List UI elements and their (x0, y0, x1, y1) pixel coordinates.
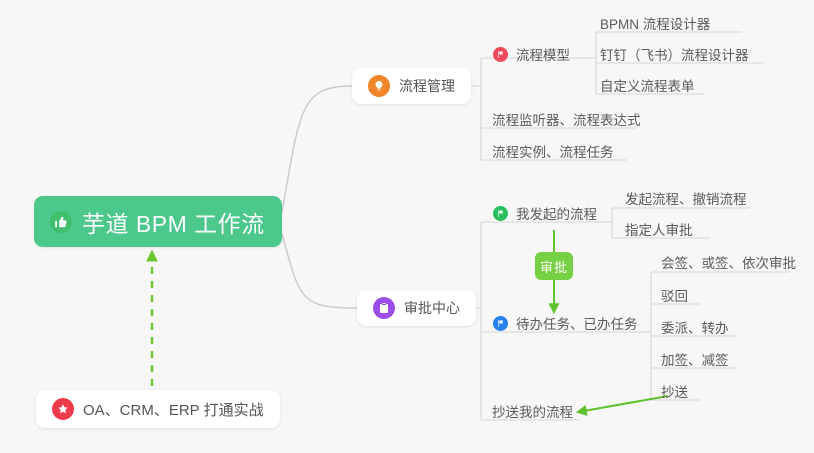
link-root-flow-management (282, 86, 352, 212)
label-flow-model: 流程模型 (516, 44, 570, 64)
star-icon (52, 398, 74, 420)
node-todo-done-tasks[interactable]: 待办任务、已办任务 (493, 313, 638, 338)
approve-flow-badge: 审批 (535, 252, 573, 280)
integration-practice-node[interactable]: OA、CRM、ERP 打通实战 (36, 390, 280, 428)
branch-label-flow-management: 流程管理 (399, 76, 455, 96)
label-dingtalk-feishu-designer: 钉钉（飞书）流程设计器 (600, 44, 749, 64)
node-add-remove-sign[interactable]: 加签、减签 (661, 349, 729, 374)
clipboard-icon (373, 297, 395, 319)
node-my-started-flows[interactable]: 我发起的流程 (493, 203, 597, 228)
label-delegate-transfer: 委派、转办 (661, 317, 729, 337)
node-instance-task[interactable]: 流程实例、流程任务 (492, 141, 614, 166)
node-reject[interactable]: 驳回 (661, 285, 688, 310)
root-label: 芋道 BPM 工作流 (82, 205, 265, 239)
branch-label-approval-center: 审批中心 (404, 298, 460, 318)
node-carbon-copy[interactable]: 抄送 (661, 381, 688, 406)
label-custom-flow-form: 自定义流程表单 (600, 75, 695, 95)
lightbulb-icon (368, 75, 390, 97)
thumbs-up-icon (50, 211, 72, 233)
node-start-cancel-flow[interactable]: 发起流程、撤销流程 (625, 188, 747, 213)
label-instance-task: 流程实例、流程任务 (492, 141, 614, 161)
branch-node-approval-center[interactable]: 审批中心 (357, 290, 476, 326)
label-carbon-copy: 抄送 (661, 381, 688, 401)
flag-green-icon (493, 206, 508, 221)
label-bpmn-designer: BPMN 流程设计器 (600, 13, 710, 33)
node-custom-flow-form[interactable]: 自定义流程表单 (600, 75, 695, 100)
node-multi-sign[interactable]: 会签、或签、依次审批 (661, 252, 796, 277)
node-flow-model[interactable]: 流程模型 (493, 44, 570, 69)
root-node[interactable]: 芋道 BPM 工作流 (34, 196, 282, 247)
label-cc-to-me-flows: 抄送我的流程 (492, 401, 573, 421)
node-dingtalk-feishu-designer[interactable]: 钉钉（飞书）流程设计器 (600, 44, 749, 69)
node-listener-expression[interactable]: 流程监听器、流程表达式 (492, 109, 641, 134)
branch-node-flow-management[interactable]: 流程管理 (352, 68, 471, 104)
approve-flow-badge-label: 审批 (540, 257, 568, 276)
mindmap-canvas: 芋道 BPM 工作流 流程管理 流程模型 BPMN 流程设计器 钉钉（飞书）流程… (0, 0, 814, 453)
label-add-remove-sign: 加签、减签 (661, 349, 729, 369)
link-root-approval-center (282, 234, 357, 308)
label-my-started-flows: 我发起的流程 (516, 203, 597, 223)
label-multi-sign: 会签、或签、依次审批 (661, 252, 796, 272)
flag-red-icon (493, 47, 508, 62)
label-start-cancel-flow: 发起流程、撤销流程 (625, 188, 747, 208)
label-reject: 驳回 (661, 285, 688, 305)
label-assignee-approval: 指定人审批 (625, 219, 693, 239)
node-assignee-approval[interactable]: 指定人审批 (625, 219, 693, 244)
label-todo-done-tasks: 待办任务、已办任务 (516, 313, 638, 333)
integration-practice-label: OA、CRM、ERP 打通实战 (83, 399, 264, 420)
flag-blue-icon (493, 316, 508, 331)
node-delegate-transfer[interactable]: 委派、转办 (661, 317, 729, 342)
node-cc-to-me-flows[interactable]: 抄送我的流程 (492, 401, 573, 426)
node-bpmn-designer[interactable]: BPMN 流程设计器 (600, 13, 710, 38)
arrow-cc-to-cc-flows (578, 396, 668, 412)
label-listener-expression: 流程监听器、流程表达式 (492, 109, 641, 129)
